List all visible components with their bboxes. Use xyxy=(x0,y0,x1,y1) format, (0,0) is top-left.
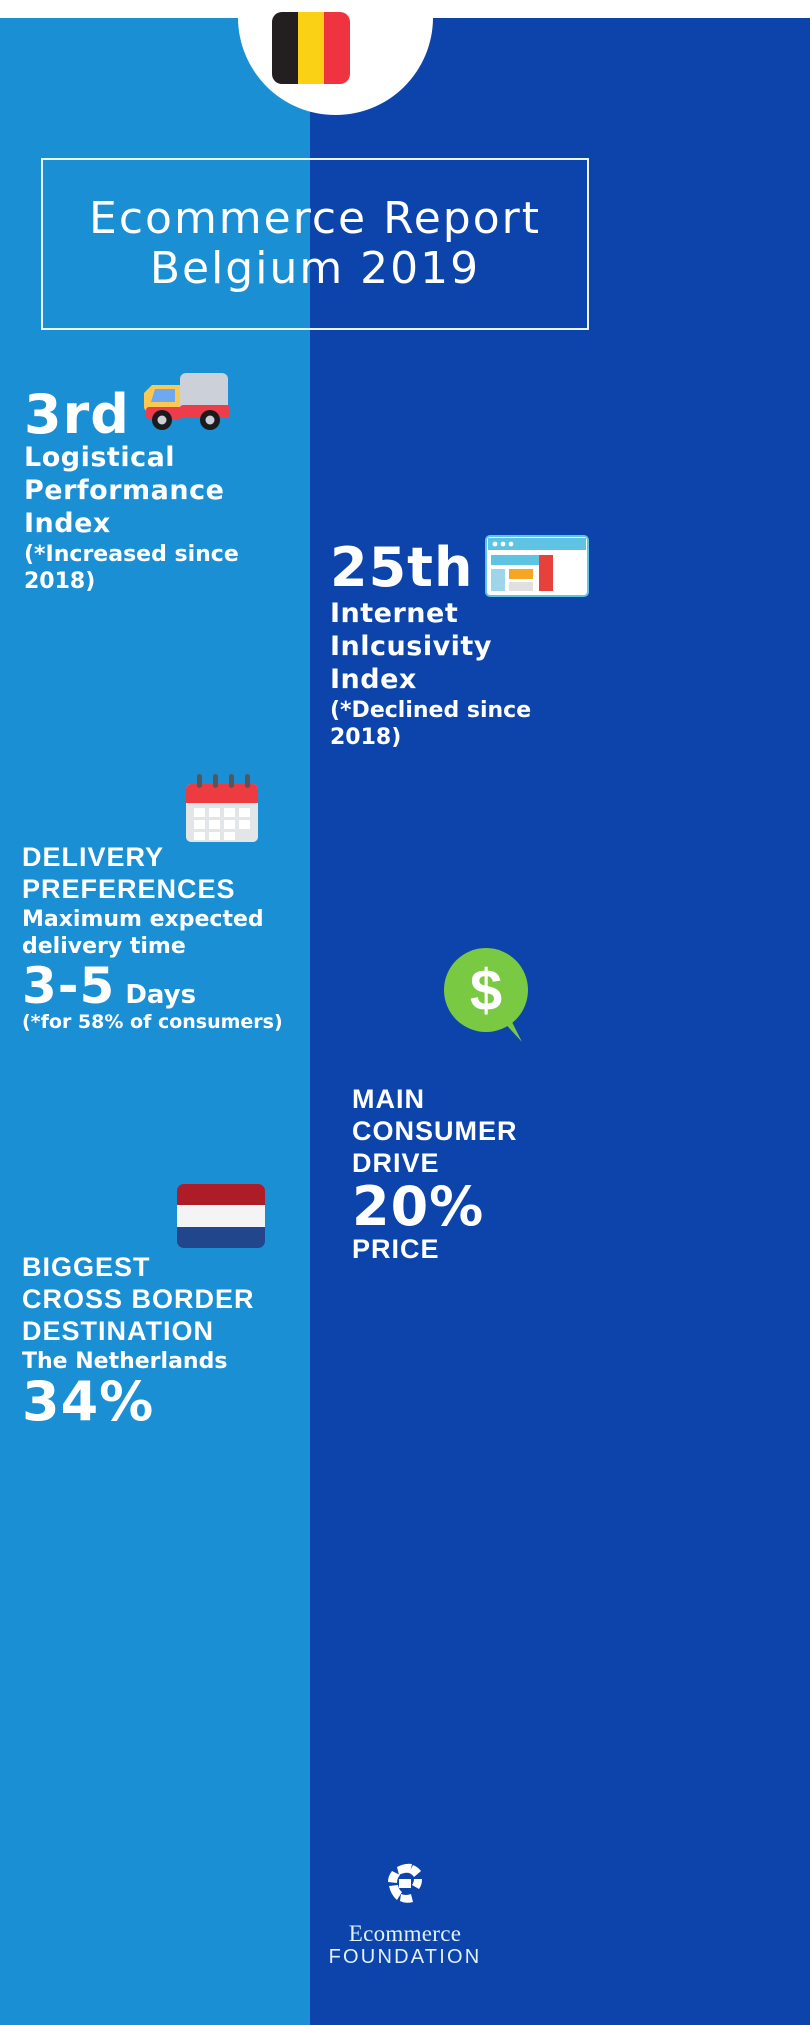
brand-name: Ecommerce xyxy=(0,1922,810,1945)
internet-label-2: Inlcusivity xyxy=(330,631,620,664)
delivery-truck-icon xyxy=(140,367,232,438)
delivery-heading-2: PREFERENCES xyxy=(22,874,322,906)
internet-note-1: (*Declined since xyxy=(330,697,620,725)
drive-heading-2: CONSUMER xyxy=(352,1116,612,1148)
delivery-note: (*for 58% of consumers) xyxy=(22,1011,322,1035)
border-percentage-value: 34% xyxy=(22,1375,322,1429)
drive-driver-label: PRICE xyxy=(352,1234,612,1266)
title-line-2: Belgium 2019 xyxy=(89,244,541,294)
netherlands-flag-icon xyxy=(177,1184,265,1248)
title-box: Ecommerce Report Belgium 2019 xyxy=(41,158,589,330)
logistics-label-2: Performance xyxy=(24,475,314,508)
dollar-speech-bubble-icon: $ xyxy=(442,946,534,1051)
stat-internet-inclusivity: 25th Internet Inlcusivity Inde xyxy=(330,538,620,752)
delivery-heading-1: DELIVERY xyxy=(22,842,322,874)
title-line-1: Ecommerce Report xyxy=(89,194,541,244)
globe-logo-icon xyxy=(0,1855,810,1916)
svg-text:$: $ xyxy=(470,958,502,1023)
stat-logistical-performance: 3rd Logistical Performance Index (*Incre… xyxy=(24,370,314,596)
logistics-label-1: Logistical xyxy=(24,442,314,475)
logistics-rank-value: 3rd xyxy=(24,388,130,442)
border-heading-1: BIGGEST xyxy=(22,1252,322,1284)
delivery-time-unit: Days xyxy=(125,980,196,1010)
browser-window-icon xyxy=(485,535,589,602)
internet-label-3: Index xyxy=(330,664,620,697)
footer-logo: Ecommerce FOUNDATION xyxy=(0,1855,810,1969)
brand-subtitle: FOUNDATION xyxy=(0,1945,810,1969)
drive-percentage-value: 20% xyxy=(352,1180,612,1234)
stat-cross-border-destination: BIGGEST CROSS BORDER DESTINATION The Net… xyxy=(22,1190,322,1429)
logistics-note-2: 2018) xyxy=(24,568,314,596)
logistics-note-1: (*Increased since xyxy=(24,541,314,569)
delivery-time-value: 3-5 xyxy=(22,961,115,1011)
calendar-icon-wrap xyxy=(22,772,322,842)
belgium-flag-icon xyxy=(272,12,350,84)
border-heading-3: DESTINATION xyxy=(22,1316,322,1348)
internet-label-1: Internet xyxy=(330,598,620,631)
internet-note-2: 2018) xyxy=(330,724,620,752)
infographic-canvas: Ecommerce Report Belgium 2019 3rd xyxy=(0,0,810,2025)
logistics-label-3: Index xyxy=(24,508,314,541)
dollar-bubble-wrap: $ xyxy=(352,1006,612,1084)
netherlands-flag-wrap xyxy=(22,1190,322,1252)
stat-main-consumer-drive: $ MAIN CONSUMER DRIVE 20% PRICE xyxy=(352,1006,612,1265)
internet-rank-value: 25th xyxy=(330,541,473,595)
border-heading-2: CROSS BORDER xyxy=(22,1284,322,1316)
page-title: Ecommerce Report Belgium 2019 xyxy=(83,194,547,294)
drive-heading-1: MAIN xyxy=(352,1084,612,1116)
delivery-sub-1: Maximum expected xyxy=(22,906,322,934)
stat-delivery-preferences: DELIVERY PREFERENCES Maximum expected de… xyxy=(22,772,322,1034)
